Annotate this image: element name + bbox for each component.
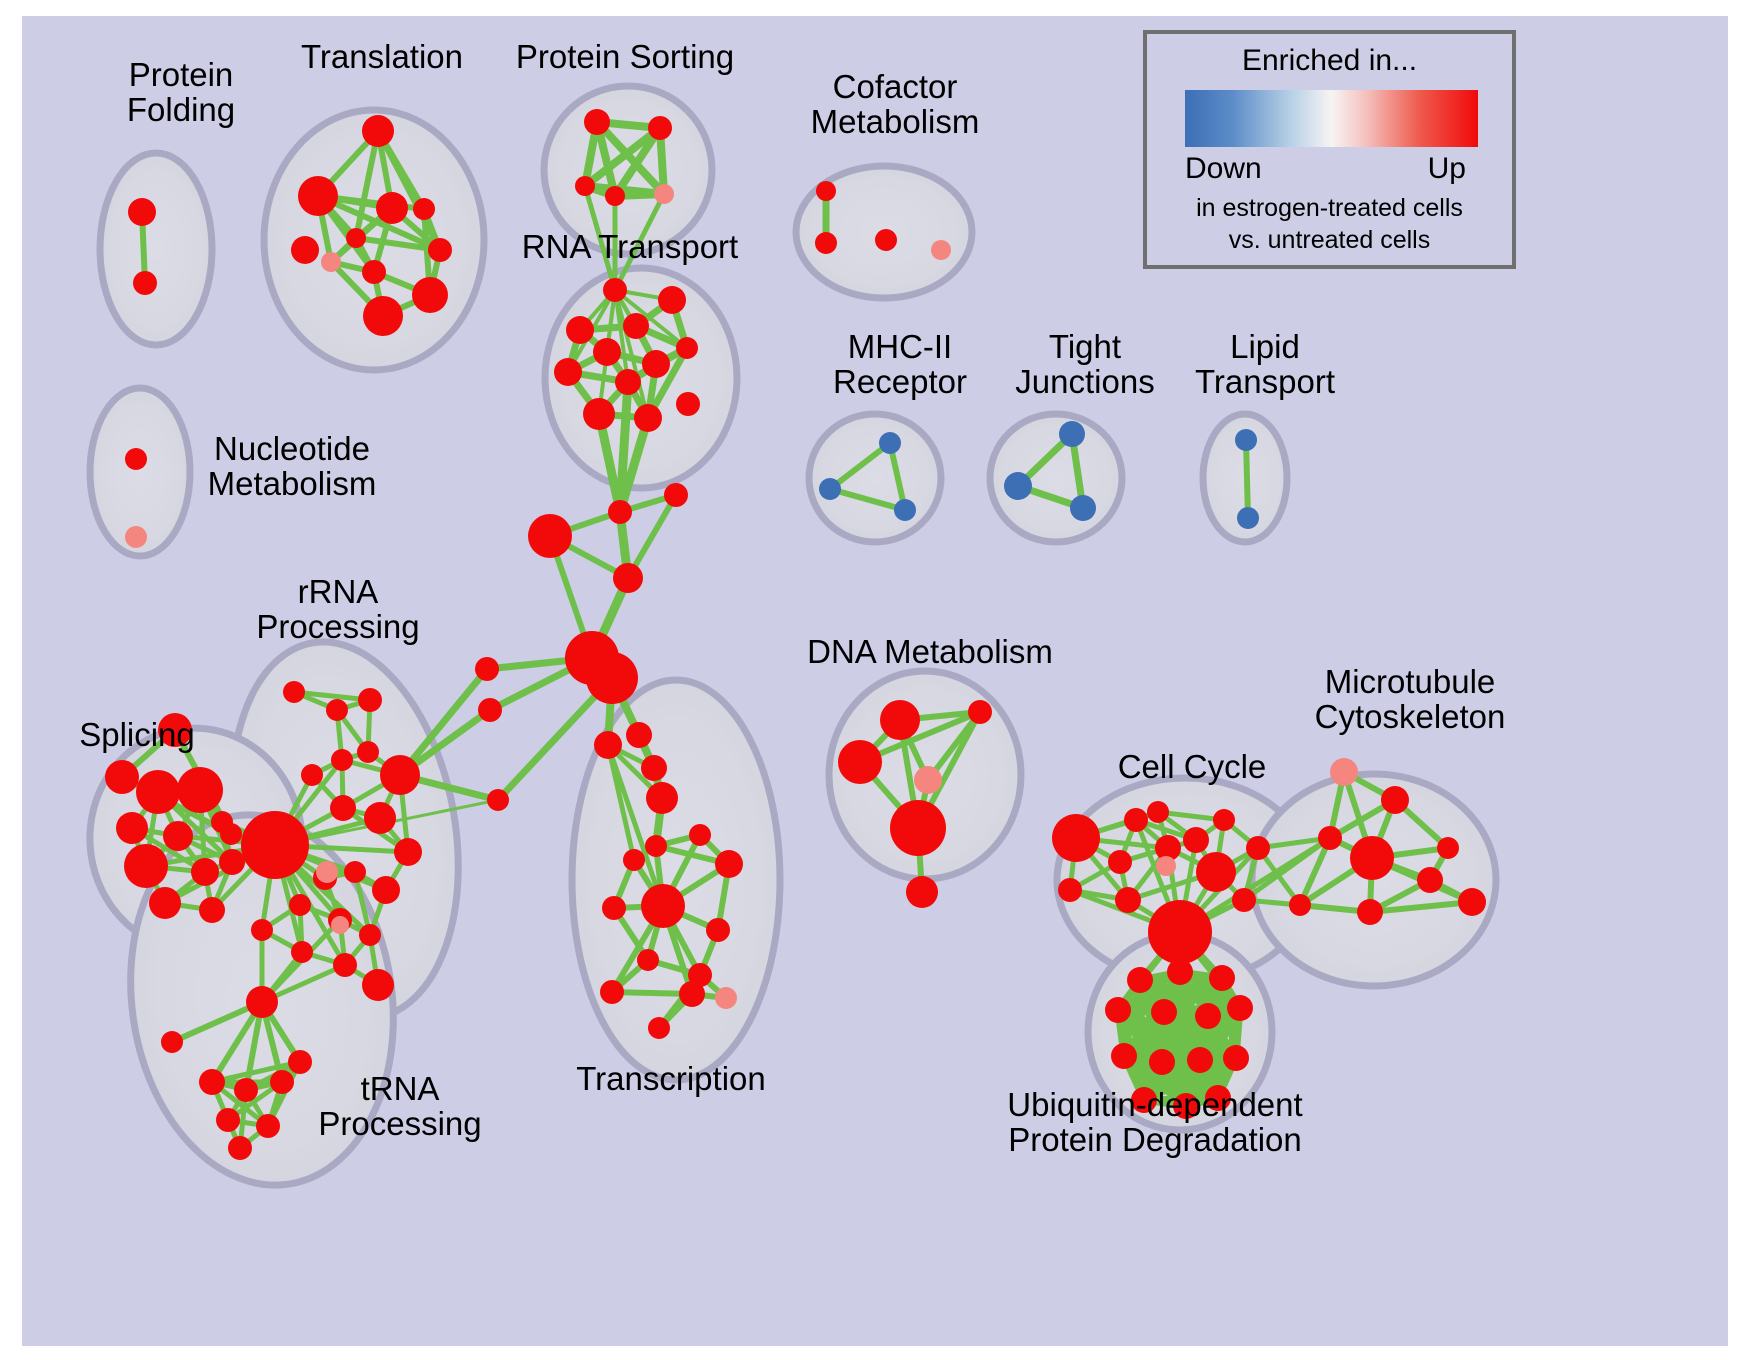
node bbox=[1187, 1047, 1213, 1073]
node bbox=[654, 184, 674, 204]
cluster-label-splicing: Splicing bbox=[52, 718, 222, 753]
node bbox=[1124, 808, 1148, 832]
legend-title: Enriched in... bbox=[1147, 44, 1512, 78]
node bbox=[177, 767, 223, 813]
node bbox=[1232, 888, 1256, 912]
node bbox=[428, 238, 452, 262]
node bbox=[362, 260, 386, 284]
node bbox=[124, 844, 168, 888]
node bbox=[890, 800, 946, 856]
node bbox=[478, 698, 502, 722]
node bbox=[815, 232, 837, 254]
node bbox=[487, 789, 509, 811]
node bbox=[199, 897, 225, 923]
node bbox=[1350, 836, 1394, 880]
node bbox=[1437, 837, 1459, 859]
node bbox=[412, 277, 448, 313]
node bbox=[879, 432, 901, 454]
figure-canvas: Protein Folding Translation Protein Sort… bbox=[0, 0, 1750, 1360]
node bbox=[1149, 1049, 1175, 1075]
node bbox=[333, 953, 357, 977]
node bbox=[1052, 814, 1100, 862]
node bbox=[326, 699, 348, 721]
node bbox=[676, 337, 698, 359]
node bbox=[605, 186, 625, 206]
node bbox=[1004, 472, 1032, 500]
legend-panel: Enriched in... Down Up in estrogen-treat… bbox=[1143, 30, 1516, 269]
node bbox=[270, 1070, 294, 1094]
node bbox=[1183, 827, 1209, 853]
node bbox=[211, 811, 233, 833]
node bbox=[1108, 850, 1132, 874]
node bbox=[376, 192, 408, 224]
node bbox=[298, 176, 338, 216]
cluster-label-dna-metabolism: DNA Metabolism bbox=[800, 635, 1060, 670]
node bbox=[603, 278, 627, 302]
legend-low-label: Down bbox=[1185, 152, 1262, 186]
node bbox=[1147, 801, 1169, 823]
node bbox=[528, 514, 572, 558]
node bbox=[1381, 786, 1409, 814]
cluster-label-rna-transport: RNA Transport bbox=[505, 230, 755, 265]
node bbox=[394, 838, 422, 866]
node bbox=[931, 240, 951, 260]
node bbox=[1105, 997, 1131, 1023]
node bbox=[584, 109, 610, 135]
node bbox=[364, 802, 396, 834]
node bbox=[105, 760, 139, 794]
node bbox=[125, 526, 147, 548]
node bbox=[1235, 429, 1257, 451]
node bbox=[1289, 894, 1311, 916]
node bbox=[645, 835, 667, 857]
node bbox=[1223, 1045, 1249, 1071]
node bbox=[642, 350, 670, 378]
node bbox=[1330, 758, 1358, 786]
node bbox=[1151, 999, 1177, 1025]
node bbox=[331, 916, 349, 934]
node bbox=[608, 500, 632, 524]
node bbox=[216, 1108, 240, 1132]
node bbox=[283, 681, 305, 703]
node bbox=[199, 1069, 225, 1095]
node bbox=[641, 755, 667, 781]
hull-protein-folding bbox=[100, 153, 212, 345]
legend-caption-line1: in estrogen-treated cells bbox=[1147, 194, 1512, 223]
node bbox=[586, 652, 638, 704]
node bbox=[346, 228, 366, 248]
node bbox=[575, 176, 595, 196]
node bbox=[1213, 809, 1235, 831]
node bbox=[301, 764, 323, 786]
node bbox=[288, 1050, 312, 1074]
node bbox=[706, 918, 730, 942]
node bbox=[291, 236, 319, 264]
node bbox=[1127, 967, 1153, 993]
node bbox=[256, 1114, 280, 1138]
node bbox=[1237, 507, 1259, 529]
node bbox=[234, 1078, 258, 1102]
cluster-label-transcription: Transcription bbox=[566, 1062, 776, 1097]
node bbox=[968, 700, 992, 724]
node bbox=[1058, 878, 1082, 902]
node bbox=[363, 296, 403, 336]
node bbox=[380, 755, 420, 795]
node bbox=[330, 795, 356, 821]
node bbox=[251, 919, 273, 941]
node bbox=[648, 1017, 670, 1039]
cluster-label-ubiquitin-protein-degradation: Ubiquitin-dependent Protein Degradation bbox=[985, 1088, 1325, 1158]
node bbox=[664, 483, 688, 507]
cluster-label-cofactor-metabolism: Cofactor Metabolism bbox=[795, 70, 995, 140]
node bbox=[1196, 852, 1236, 892]
node bbox=[634, 404, 662, 432]
node bbox=[1070, 495, 1096, 521]
node bbox=[600, 980, 624, 1004]
node bbox=[475, 657, 499, 681]
node bbox=[715, 987, 737, 1009]
node bbox=[1458, 888, 1486, 916]
node bbox=[623, 849, 645, 871]
node bbox=[133, 271, 157, 295]
node bbox=[676, 392, 700, 416]
cluster-label-cell-cycle: Cell Cycle bbox=[1097, 750, 1287, 785]
node bbox=[362, 115, 394, 147]
node bbox=[880, 700, 920, 740]
node bbox=[816, 181, 836, 201]
node bbox=[191, 858, 219, 886]
node bbox=[321, 252, 341, 272]
node bbox=[149, 887, 181, 919]
legend-color-gradient-bar bbox=[1185, 90, 1478, 147]
node bbox=[626, 722, 652, 748]
node bbox=[161, 1031, 183, 1053]
cluster-label-protein-sorting: Protein Sorting bbox=[500, 40, 750, 75]
node bbox=[1417, 867, 1443, 893]
node bbox=[316, 861, 338, 883]
node bbox=[246, 986, 278, 1018]
node bbox=[1246, 836, 1270, 860]
node bbox=[413, 198, 435, 220]
node bbox=[646, 782, 678, 814]
node bbox=[1357, 899, 1383, 925]
node bbox=[228, 1136, 252, 1160]
node bbox=[819, 478, 841, 500]
node bbox=[372, 876, 400, 904]
node bbox=[875, 229, 897, 251]
cluster-label-mhc-ii-receptor: MHC-II Receptor bbox=[800, 330, 1000, 400]
node bbox=[362, 969, 394, 1001]
cluster-label-protein-folding: Protein Folding bbox=[86, 58, 276, 128]
node bbox=[1209, 965, 1235, 991]
node bbox=[637, 949, 659, 971]
node bbox=[594, 731, 622, 759]
cluster-label-translation: Translation bbox=[282, 40, 482, 75]
node bbox=[344, 861, 366, 883]
node bbox=[136, 770, 180, 814]
node bbox=[679, 981, 705, 1007]
node bbox=[1318, 826, 1342, 850]
node bbox=[1227, 995, 1253, 1021]
node bbox=[593, 338, 621, 366]
node bbox=[658, 286, 686, 314]
node bbox=[623, 313, 649, 339]
cluster-label-microtubule-cytoskeleton: Microtubule Cytoskeleton bbox=[1290, 665, 1530, 735]
node bbox=[554, 358, 582, 386]
node bbox=[613, 563, 643, 593]
node bbox=[1115, 887, 1141, 913]
node bbox=[1156, 856, 1176, 876]
node bbox=[289, 894, 311, 916]
cluster-label-nucleotide-metabolism: Nucleotide Metabolism bbox=[192, 432, 392, 502]
node bbox=[358, 688, 382, 712]
node bbox=[357, 741, 379, 763]
node bbox=[914, 766, 942, 794]
node bbox=[1148, 900, 1212, 964]
node bbox=[1111, 1043, 1137, 1069]
node bbox=[125, 448, 147, 470]
node bbox=[689, 824, 711, 846]
node bbox=[583, 398, 615, 430]
legend-high-label: Up bbox=[1428, 152, 1466, 186]
cluster-label-rrna-processing: rRNA Processing bbox=[238, 575, 438, 645]
node bbox=[894, 499, 916, 521]
node bbox=[1167, 959, 1193, 985]
node bbox=[715, 850, 743, 878]
cluster-label-trna-processing: tRNA Processing bbox=[300, 1072, 500, 1142]
cluster-label-lipid-transport: Lipid Transport bbox=[1165, 330, 1365, 400]
hull-mhc bbox=[809, 414, 941, 542]
node bbox=[116, 812, 148, 844]
node bbox=[615, 369, 641, 395]
node bbox=[906, 876, 938, 908]
node bbox=[219, 849, 245, 875]
node bbox=[648, 116, 672, 140]
node bbox=[1195, 1003, 1221, 1029]
node bbox=[602, 896, 626, 920]
node bbox=[128, 198, 156, 226]
cluster-label-tight-junctions: Tight Junctions bbox=[985, 330, 1185, 400]
legend-caption-line2: vs. untreated cells bbox=[1147, 226, 1512, 255]
node bbox=[241, 811, 309, 879]
node bbox=[291, 941, 313, 963]
node bbox=[641, 884, 685, 928]
node bbox=[1059, 421, 1085, 447]
node bbox=[359, 924, 381, 946]
node bbox=[163, 821, 193, 851]
node bbox=[331, 749, 353, 771]
node bbox=[566, 316, 594, 344]
node bbox=[838, 740, 882, 784]
